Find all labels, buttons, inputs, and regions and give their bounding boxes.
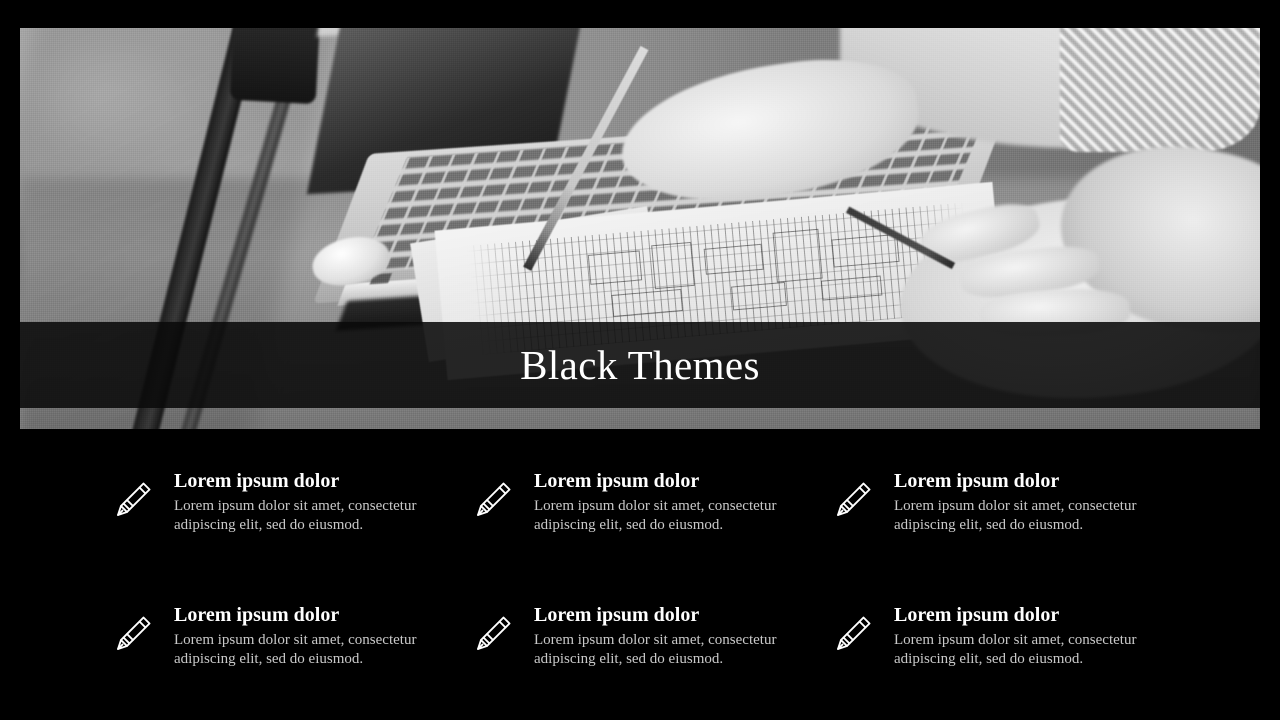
- feature-text: Lorem ipsum dolor Lorem ipsum dolor sit …: [174, 470, 436, 535]
- feature-grid: Lorem ipsum dolor Lorem ipsum dolor sit …: [110, 470, 1170, 720]
- feature-item[interactable]: Lorem ipsum dolor Lorem ipsum dolor sit …: [470, 470, 830, 604]
- feature-description: Lorem ipsum dolor sit amet, consectetur …: [894, 497, 1156, 535]
- slide: Black Themes Lorem ipsum dolor Lorem ips…: [0, 0, 1280, 720]
- feature-text: Lorem ipsum dolor Lorem ipsum dolor sit …: [534, 470, 796, 535]
- pencil-icon: [470, 476, 516, 522]
- title-band: Black Themes: [20, 322, 1260, 408]
- feature-text: Lorem ipsum dolor Lorem ipsum dolor sit …: [534, 604, 796, 669]
- feature-title: Lorem ipsum dolor: [174, 604, 436, 627]
- feature-item[interactable]: Lorem ipsum dolor Lorem ipsum dolor sit …: [110, 604, 470, 720]
- pencil-icon: [830, 610, 876, 656]
- pencil-icon: [110, 476, 156, 522]
- feature-description: Lorem ipsum dolor sit amet, consectetur …: [174, 497, 436, 535]
- feature-text: Lorem ipsum dolor Lorem ipsum dolor sit …: [894, 604, 1156, 669]
- feature-description: Lorem ipsum dolor sit amet, consectetur …: [534, 497, 796, 535]
- pencil-icon: [830, 476, 876, 522]
- pencil-icon: [110, 610, 156, 656]
- feature-item[interactable]: Lorem ipsum dolor Lorem ipsum dolor sit …: [830, 604, 1190, 720]
- feature-item[interactable]: Lorem ipsum dolor Lorem ipsum dolor sit …: [470, 604, 830, 720]
- feature-title: Lorem ipsum dolor: [894, 470, 1156, 493]
- feature-item[interactable]: Lorem ipsum dolor Lorem ipsum dolor sit …: [110, 470, 470, 604]
- page-title: Black Themes: [520, 345, 760, 386]
- feature-description: Lorem ipsum dolor sit amet, consectetur …: [534, 631, 796, 669]
- pencil-icon: [470, 610, 516, 656]
- feature-title: Lorem ipsum dolor: [174, 470, 436, 493]
- feature-description: Lorem ipsum dolor sit amet, consectetur …: [894, 631, 1156, 669]
- feature-title: Lorem ipsum dolor: [534, 470, 796, 493]
- feature-title: Lorem ipsum dolor: [894, 604, 1156, 627]
- feature-text: Lorem ipsum dolor Lorem ipsum dolor sit …: [894, 470, 1156, 535]
- feature-description: Lorem ipsum dolor sit amet, consectetur …: [174, 631, 436, 669]
- feature-item[interactable]: Lorem ipsum dolor Lorem ipsum dolor sit …: [830, 470, 1190, 604]
- hero-image: Black Themes: [20, 28, 1260, 429]
- feature-title: Lorem ipsum dolor: [534, 604, 796, 627]
- feature-text: Lorem ipsum dolor Lorem ipsum dolor sit …: [174, 604, 436, 669]
